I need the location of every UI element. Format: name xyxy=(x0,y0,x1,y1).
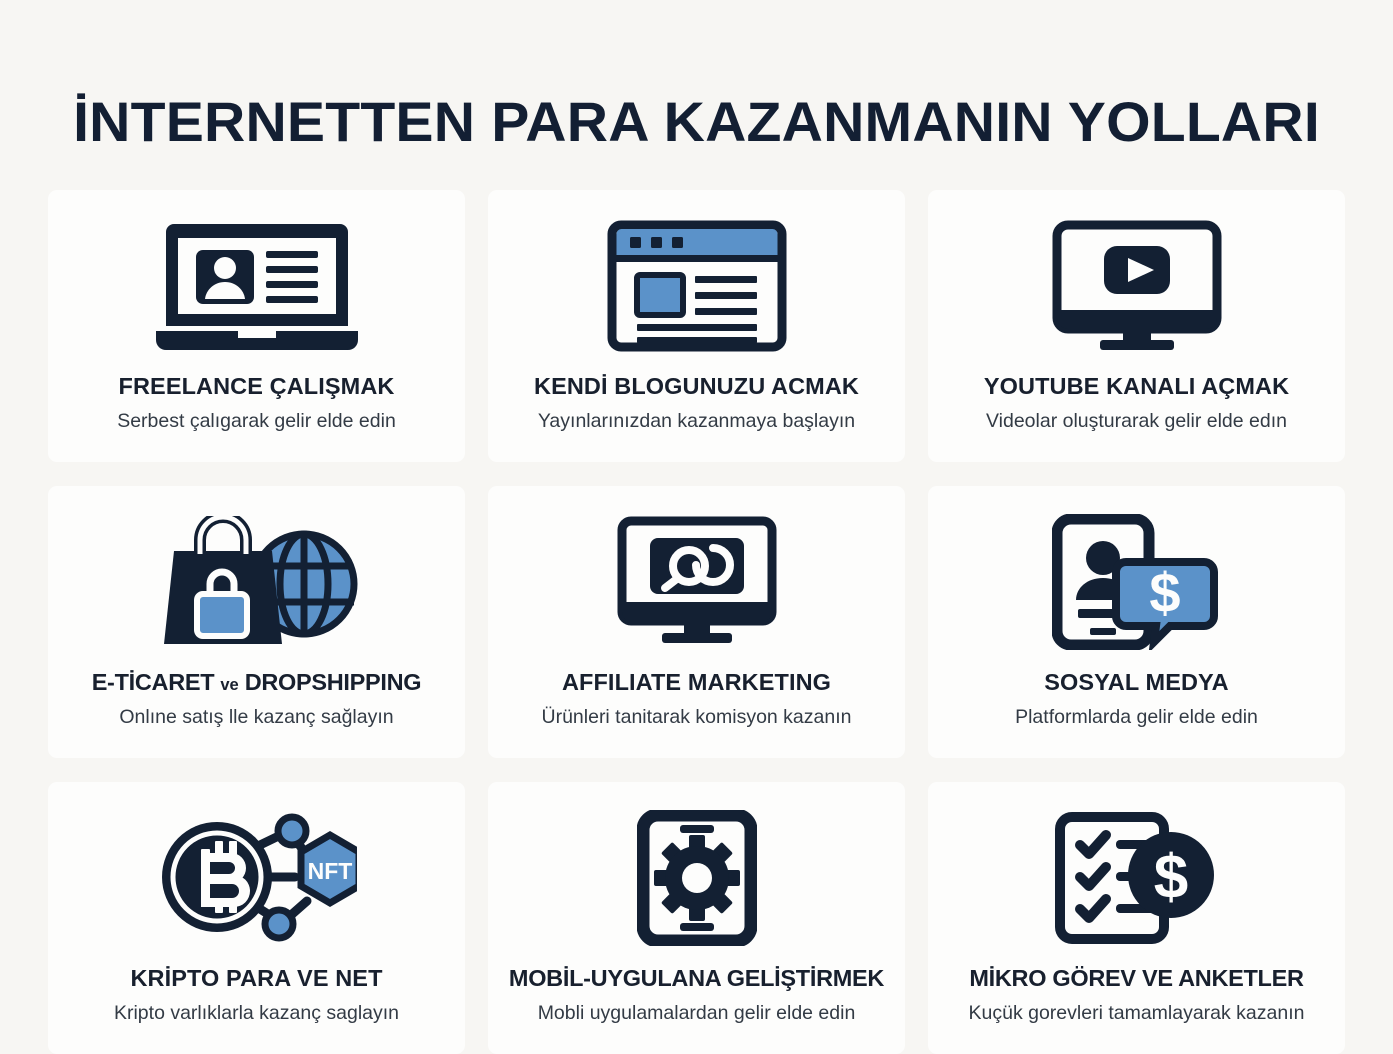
dollar-sign-label: $ xyxy=(1149,561,1180,624)
card-title-part2: DROPSHIPPING xyxy=(245,669,422,695)
phone-gear-icon xyxy=(637,808,757,948)
card-social-media[interactable]: $ SOSYAL MEDYA Platformlarda gelir elde … xyxy=(928,486,1345,758)
card-youtube[interactable]: YOUTUBE KANALI AÇMAK Videolar oluşturara… xyxy=(928,190,1345,462)
card-subtitle: Ürünleri tanitarak komisyon kazanın xyxy=(542,706,852,729)
card-title-part1: E-TİCARET xyxy=(92,669,215,695)
nft-badge-label: NFT xyxy=(307,858,352,884)
checklist-dollar-coin-icon: $ xyxy=(1054,808,1219,948)
card-subtitle: Yayınlarınızdan kazanmaya başlayın xyxy=(538,410,855,433)
cards-grid: FREELANCE ÇALIŞMAK Serbest çalıgarak gel… xyxy=(48,190,1345,1054)
card-affiliate[interactable]: AFFILIATE MARKETING Ürünleri tanitarak k… xyxy=(488,486,905,758)
card-title: SOSYAL MEDYA xyxy=(1044,669,1228,696)
dollar-sign-label: $ xyxy=(1154,843,1188,912)
phone-profile-dollar-bubble-icon: $ xyxy=(1052,512,1222,652)
card-title: FREELANCE ÇALIŞMAK xyxy=(119,373,395,400)
card-subtitle: Kuçük gorevleri tamamlayarak kazanın xyxy=(969,1002,1305,1025)
bitcoin-nft-network-icon: NFT xyxy=(157,808,357,948)
card-freelance[interactable]: FREELANCE ÇALIŞMAK Serbest çalıgarak gel… xyxy=(48,190,465,462)
laptop-profile-icon xyxy=(152,216,362,356)
page-title: İNTERNETTEN PARA KAZANMANIN YOLLARI xyxy=(35,38,1358,150)
monitor-play-icon xyxy=(1052,216,1222,356)
browser-window-icon xyxy=(607,216,787,356)
monitor-link-icon xyxy=(617,512,777,652)
card-title: MOBİL-UYGULANA GELİŞTİRMEK xyxy=(509,965,884,992)
card-title: AFFILIATE MARKETING xyxy=(562,669,831,696)
card-title: E-TİCARETveDROPSHIPPING xyxy=(92,669,422,696)
card-blog[interactable]: KENDİ BLOGUNUZU ACMAK Yayınlarınızdan ka… xyxy=(488,190,905,462)
infographic-page: İNTERNETTEN PARA KAZANMANIN YOLLARI xyxy=(0,38,1393,967)
card-subtitle: Kripto varlıklarla kazanç saglayın xyxy=(114,1002,399,1025)
card-subtitle: Onlıne satış lle kazanç sağlayın xyxy=(119,706,393,729)
card-subtitle: Videolar oluşturarak gelir elde edın xyxy=(986,410,1287,433)
card-crypto[interactable]: NFT KRİPTO PARA VE NET Kripto varlıklarl… xyxy=(48,782,465,1054)
card-ecommerce[interactable]: E-TİCARETveDROPSHIPPING Onlıne satış lle… xyxy=(48,486,465,758)
card-title: KENDİ BLOGUNUZU ACMAK xyxy=(534,373,859,400)
card-mobile-app[interactable]: MOBİL-UYGULANA GELİŞTİRMEK Mobli uygulam… xyxy=(488,782,905,1054)
card-title: MİKRO GÖREV VE ANKETLER xyxy=(969,965,1303,992)
card-micro-tasks[interactable]: $ MİKRO GÖREV VE ANKETLER Kuçük gorevler… xyxy=(928,782,1345,1054)
shopping-bag-globe-icon xyxy=(154,512,359,652)
card-title: KRİPTO PARA VE NET xyxy=(130,965,382,992)
card-subtitle: Platformlarda gelir elde edin xyxy=(1015,706,1258,729)
card-subtitle: Serbest çalıgarak gelir elde edin xyxy=(117,410,396,433)
card-title: YOUTUBE KANALI AÇMAK xyxy=(984,373,1289,400)
card-title-conjunction: ve xyxy=(220,676,238,694)
card-subtitle: Mobli uygulamalardan gelir elde edin xyxy=(538,1002,856,1025)
